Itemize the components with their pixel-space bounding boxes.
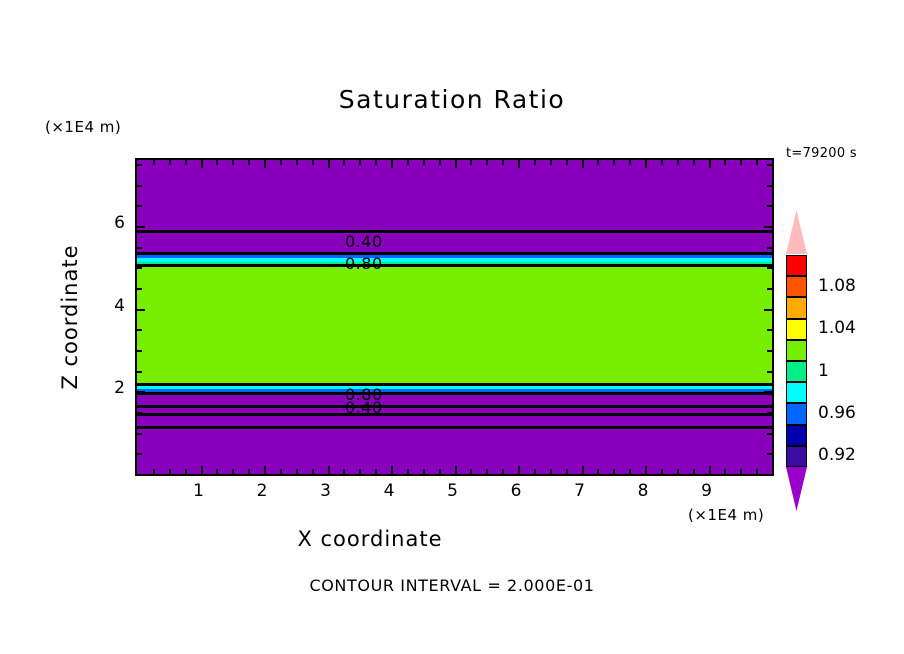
axis-tick: [597, 469, 599, 474]
axis-tick: [767, 329, 772, 331]
axis-tick: [137, 267, 142, 269]
axis-tick: [312, 160, 314, 165]
contour-line: [137, 405, 772, 408]
x-axis-unit-label: (×1E4 m): [688, 506, 764, 524]
axis-tick: [264, 160, 266, 168]
axis-tick: [248, 469, 250, 474]
axis-tick: [629, 160, 631, 165]
axis-tick: [550, 160, 552, 165]
axis-tick: [661, 160, 663, 165]
axis-tick: [470, 160, 472, 165]
axis-tick: [582, 466, 584, 474]
axis-tick: [137, 433, 142, 435]
axis-tick: [767, 412, 772, 414]
axis-tick: [137, 164, 142, 166]
axis-tick: [264, 466, 266, 474]
axis-tick: [550, 469, 552, 474]
axis-tick: [343, 160, 345, 165]
axis-tick: [248, 160, 250, 165]
axis-tick: [439, 160, 441, 165]
axis-tick: [767, 205, 772, 207]
colorbar-tick-label: 1: [818, 361, 829, 381]
page-title: Saturation Ratio: [0, 85, 904, 114]
axis-tick: [767, 453, 772, 455]
axis-tick: [518, 160, 520, 168]
axis-tick: [764, 391, 772, 393]
axis-tick: [359, 160, 361, 165]
axis-tick: [328, 160, 330, 168]
field-band: [137, 160, 772, 253]
colorbar-segment: [786, 319, 807, 340]
x-tick-label: 5: [433, 481, 473, 501]
contour-label: 0.80: [345, 254, 383, 273]
axis-tick: [455, 466, 457, 474]
axis-tick: [391, 466, 393, 474]
x-tick-label: 1: [179, 481, 219, 501]
axis-tick: [534, 469, 536, 474]
colorbar-tick-label: 1.08: [818, 276, 856, 296]
contour-line: [137, 383, 772, 386]
axis-tick: [767, 288, 772, 290]
axis-tick: [169, 469, 171, 474]
axis-tick: [137, 226, 145, 228]
axis-tick: [137, 329, 142, 331]
colorbar-cap-bottom: [786, 467, 807, 511]
axis-tick: [677, 469, 679, 474]
contour-plot-area: [135, 158, 774, 476]
axis-tick: [661, 469, 663, 474]
colorbar-segment: [786, 297, 807, 318]
colorbar-tick-label: 0.92: [818, 445, 856, 465]
axis-tick: [359, 469, 361, 474]
colorbar: [786, 255, 807, 467]
y-axis-title: Z coordinate: [58, 207, 82, 427]
axis-tick: [407, 469, 409, 474]
axis-tick: [216, 469, 218, 474]
axis-tick: [566, 469, 568, 474]
axis-tick: [375, 469, 377, 474]
axis-tick: [486, 469, 488, 474]
x-tick-label: 6: [496, 481, 536, 501]
axis-tick: [137, 185, 142, 187]
axis-tick: [153, 469, 155, 474]
axis-tick: [767, 164, 772, 166]
x-axis-title: X coordinate: [0, 527, 740, 551]
axis-tick: [137, 453, 142, 455]
field-band: [137, 265, 772, 384]
colorbar-segment: [786, 276, 807, 297]
colorbar-segment: [786, 340, 807, 361]
axis-tick: [767, 267, 772, 269]
colorbar-segment: [786, 425, 807, 446]
colorbar-tick-label: 1.04: [818, 318, 856, 338]
contour-label: 0.40: [345, 398, 383, 417]
axis-tick: [296, 469, 298, 474]
axis-tick: [439, 469, 441, 474]
x-tick-label: 9: [687, 481, 727, 501]
axis-tick: [232, 469, 234, 474]
colorbar-segment: [786, 446, 807, 467]
axis-tick: [137, 247, 142, 249]
axis-tick: [486, 160, 488, 165]
y-tick-label: 6: [85, 213, 125, 233]
axis-tick: [137, 309, 145, 311]
axis-tick: [645, 160, 647, 168]
axis-tick: [201, 160, 203, 168]
axis-tick: [232, 160, 234, 165]
contour-line: [137, 413, 772, 416]
axis-tick: [518, 466, 520, 474]
axis-tick: [328, 466, 330, 474]
axis-tick: [216, 160, 218, 165]
x-tick-label: 2: [242, 481, 282, 501]
axis-tick: [375, 160, 377, 165]
axis-tick: [764, 309, 772, 311]
axis-tick: [613, 160, 615, 165]
y-axis-unit-label: (×1E4 m): [45, 118, 121, 136]
axis-tick: [677, 160, 679, 165]
axis-tick: [629, 469, 631, 474]
axis-tick: [767, 433, 772, 435]
axis-tick: [280, 469, 282, 474]
axis-tick: [693, 160, 695, 165]
axis-tick: [137, 350, 142, 352]
y-tick-label: 4: [85, 296, 125, 316]
axis-tick: [767, 185, 772, 187]
axis-tick: [582, 160, 584, 168]
colorbar-segment: [786, 361, 807, 382]
x-tick-label: 4: [369, 481, 409, 501]
contour-interval-caption: CONTOUR INTERVAL = 2.000E-01: [0, 576, 904, 595]
axis-tick: [407, 160, 409, 165]
axis-tick: [296, 160, 298, 165]
axis-tick: [391, 160, 393, 168]
axis-tick: [137, 371, 142, 373]
axis-tick: [137, 391, 145, 393]
contour-line: [137, 264, 772, 267]
axis-tick: [724, 469, 726, 474]
colorbar-cap-top: [786, 210, 807, 254]
axis-tick: [645, 466, 647, 474]
time-annotation: t=79200 s: [786, 146, 857, 161]
axis-tick: [566, 160, 568, 165]
contour-line: [137, 252, 772, 255]
axis-tick: [756, 160, 758, 165]
colorbar-segment: [786, 403, 807, 424]
contour-line: [137, 230, 772, 233]
axis-tick: [169, 160, 171, 165]
axis-tick: [597, 160, 599, 165]
axis-tick: [756, 469, 758, 474]
axis-tick: [185, 469, 187, 474]
axis-tick: [709, 160, 711, 168]
axis-tick: [312, 469, 314, 474]
axis-tick: [137, 288, 142, 290]
contour-label: 0.40: [345, 232, 383, 251]
axis-tick: [767, 371, 772, 373]
axis-tick: [137, 412, 142, 414]
axis-tick: [767, 247, 772, 249]
axis-tick: [153, 160, 155, 165]
axis-tick: [502, 469, 504, 474]
axis-tick: [201, 466, 203, 474]
x-tick-label: 7: [560, 481, 600, 501]
colorbar-tick-label: 0.96: [818, 403, 856, 423]
x-tick-label: 3: [306, 481, 346, 501]
y-tick-label: 2: [85, 378, 125, 398]
x-tick-label: 8: [623, 481, 663, 501]
axis-tick: [502, 160, 504, 165]
colorbar-segment: [786, 382, 807, 403]
axis-tick: [455, 160, 457, 168]
axis-tick: [280, 160, 282, 165]
axis-tick: [343, 469, 345, 474]
axis-tick: [693, 469, 695, 474]
axis-tick: [724, 160, 726, 165]
axis-tick: [613, 469, 615, 474]
axis-tick: [470, 469, 472, 474]
axis-tick: [185, 160, 187, 165]
axis-tick: [423, 160, 425, 165]
contour-line: [137, 392, 772, 395]
axis-tick: [740, 469, 742, 474]
axis-tick: [709, 466, 711, 474]
axis-tick: [740, 160, 742, 165]
axis-tick: [767, 350, 772, 352]
axis-tick: [764, 226, 772, 228]
contour-line: [137, 426, 772, 429]
axis-tick: [137, 205, 142, 207]
axis-tick: [423, 469, 425, 474]
axis-tick: [534, 160, 536, 165]
colorbar-segment: [786, 255, 807, 276]
